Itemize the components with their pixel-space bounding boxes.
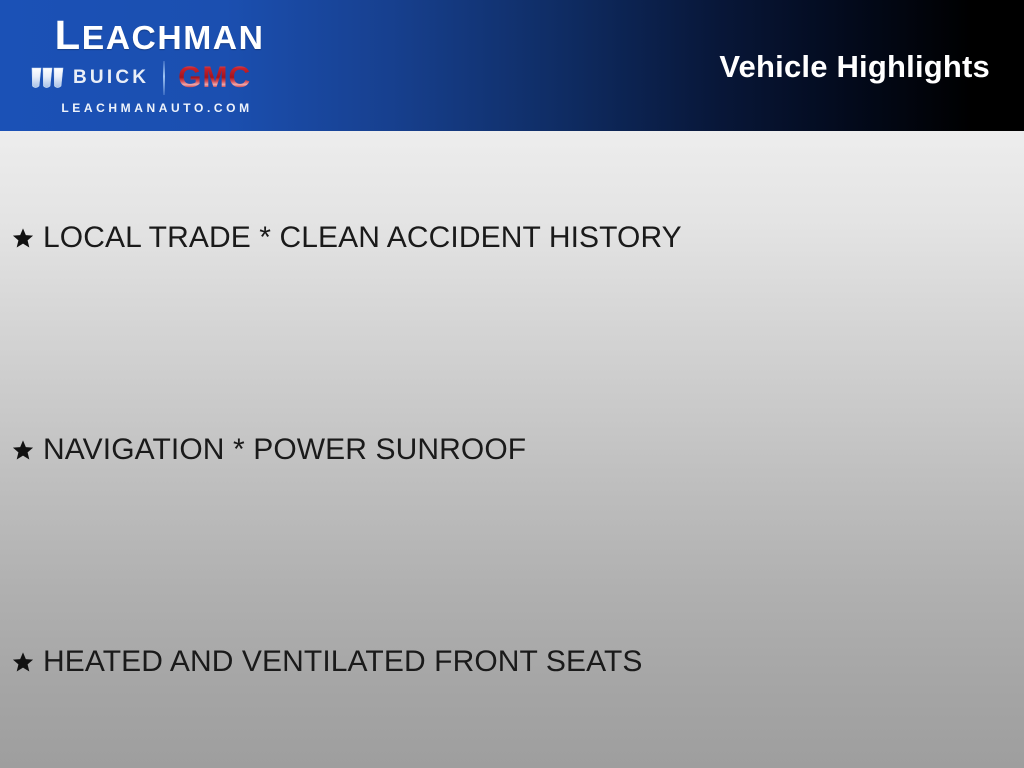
- highlight-item: HEATED AND VENTILATED FRONT SEATS: [12, 642, 643, 682]
- dealer-website-url: LEACHMANAUTO.COM: [28, 101, 286, 115]
- vehicle-highlights-list: LOCAL TRADE * CLEAN ACCIDENT HISTORY NAV…: [0, 131, 1024, 768]
- highlight-text: LOCAL TRADE * CLEAN ACCIDENT HISTORY: [43, 218, 682, 258]
- highlight-text: NAVIGATION * POWER SUNROOF: [43, 430, 526, 470]
- buick-tri-shield-icon: [28, 66, 66, 90]
- brand-row: BUICK GMC: [28, 60, 286, 96]
- dealer-name-wordmark: LEACHMAN: [28, 14, 291, 56]
- brand-divider: [163, 61, 165, 95]
- star-icon: [12, 651, 34, 673]
- gmc-wordmark: GMC: [178, 63, 251, 93]
- star-icon: [12, 439, 34, 461]
- star-icon: [12, 227, 34, 249]
- buick-wordmark: BUICK: [73, 66, 149, 90]
- highlight-item: NAVIGATION * POWER SUNROOF: [12, 430, 526, 470]
- vehicle-highlights-slide: LEACHMAN: [0, 0, 1024, 768]
- slide-body: LOCAL TRADE * CLEAN ACCIDENT HISTORY NAV…: [0, 131, 1024, 768]
- highlight-item: LOCAL TRADE * CLEAN ACCIDENT HISTORY: [12, 218, 682, 258]
- slide-header: LEACHMAN: [0, 0, 1024, 131]
- page-title: Vehicle Highlights: [719, 49, 990, 85]
- dealer-logo: LEACHMAN: [0, 0, 305, 131]
- highlight-text: HEATED AND VENTILATED FRONT SEATS: [43, 642, 643, 682]
